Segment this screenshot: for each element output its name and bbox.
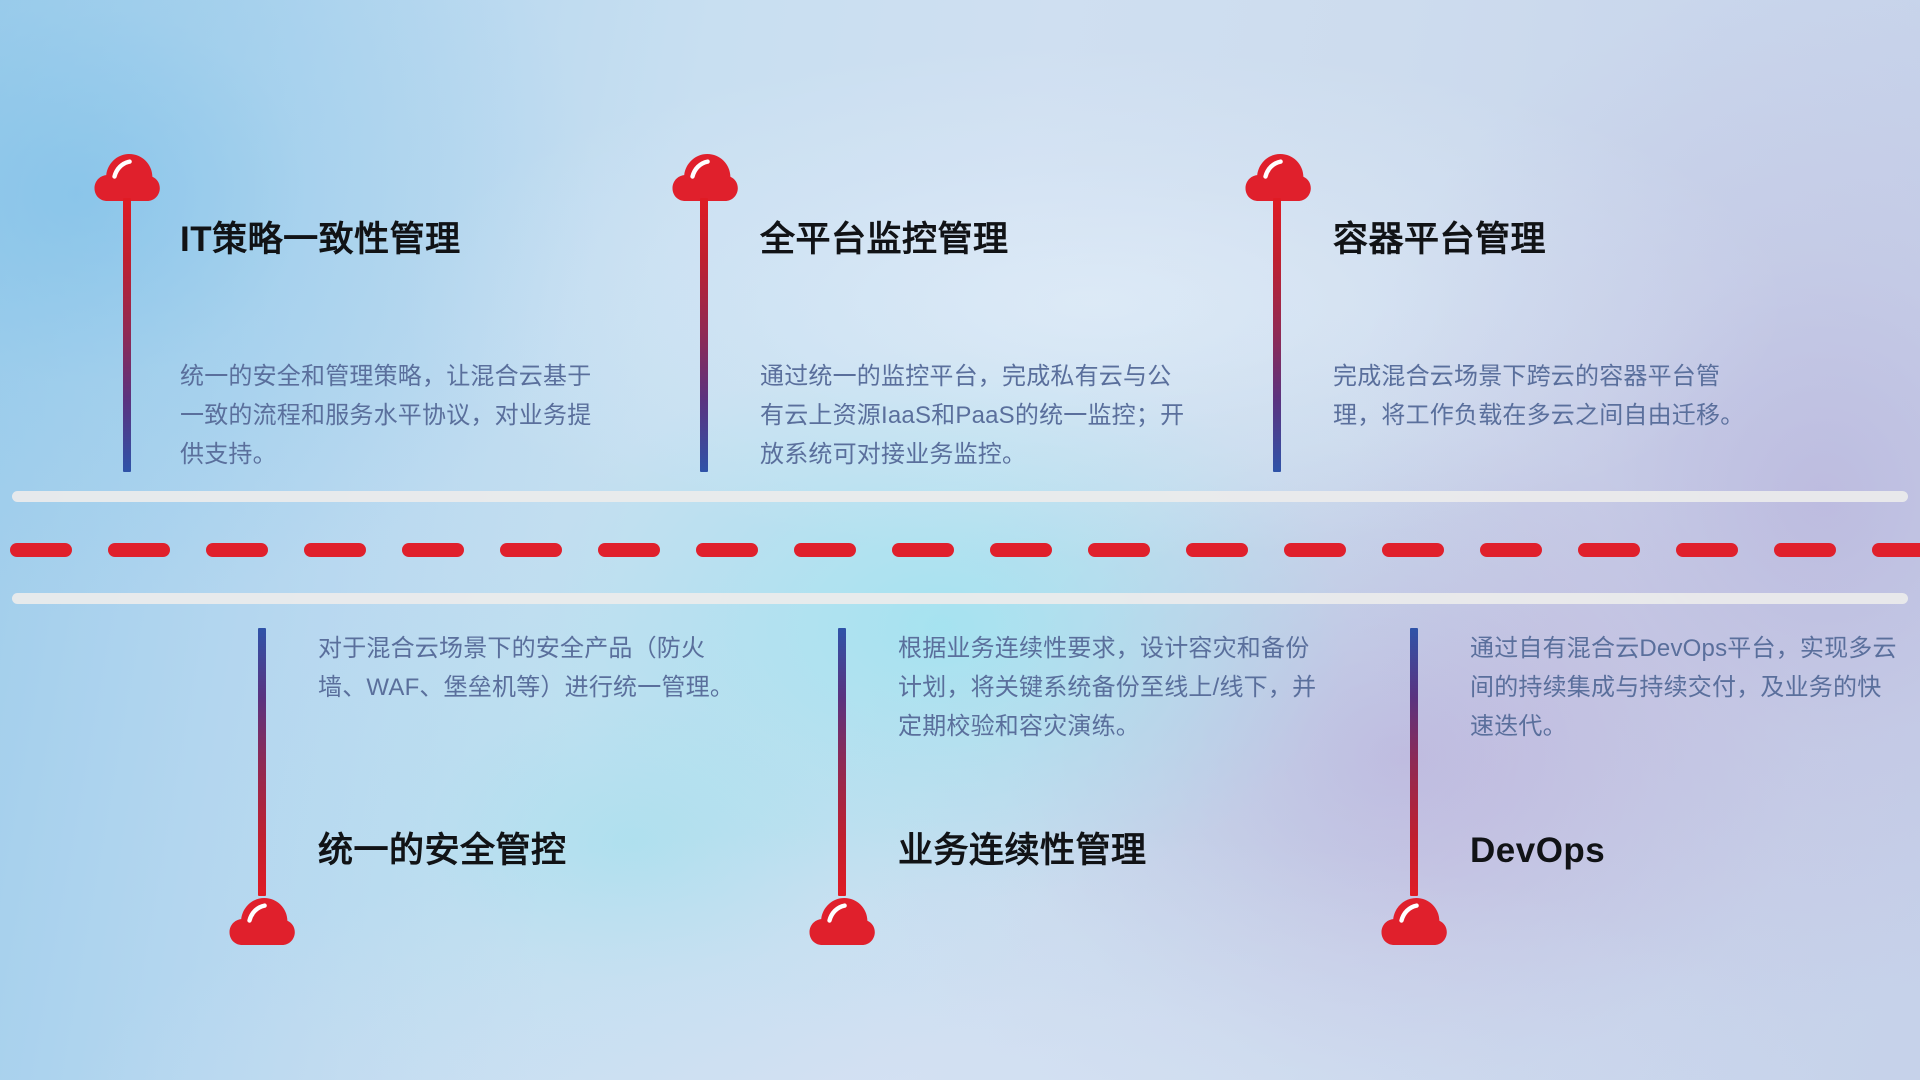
marker-title: 业务连续性管理: [898, 833, 1147, 868]
divider-dash: [304, 543, 366, 557]
divider-dash: [990, 543, 1052, 557]
marker-title: DevOps: [1470, 833, 1605, 868]
marker-body: 统一的安全和管理策略，让混合云基于一致的流程和服务水平协议，对业务提供支持。: [180, 358, 610, 475]
divider-dash: [696, 543, 758, 557]
marker-stem: [1273, 198, 1281, 472]
divider-dash: [1284, 543, 1346, 557]
divider-dash: [1774, 543, 1836, 557]
marker-body: 根据业务连续性要求，设计容灾和备份计划，将关键系统备份至线上/线下，并定期校验和…: [898, 630, 1328, 747]
divider-dash: [108, 543, 170, 557]
divider-dash: [10, 543, 72, 557]
divider-dash: [1676, 543, 1738, 557]
cloud-icon: [809, 896, 875, 946]
marker-stem: [1410, 628, 1418, 896]
divider-dash: [892, 543, 954, 557]
divider-dashed-line: [0, 543, 1920, 557]
marker-body: 通过统一的监控平台，完成私有云与公有云上资源IaaS和PaaS的统一监控；开放系…: [760, 358, 1190, 475]
marker-body: 对于混合云场景下的安全产品（防火墙、WAF、堡垒机等）进行统一管理。: [318, 630, 748, 708]
divider-dash: [1088, 543, 1150, 557]
marker-title: 容器平台管理: [1333, 222, 1546, 257]
marker-body: 通过自有混合云DevOps平台，实现多云间的持续集成与持续交付，及业务的快速迭代…: [1470, 630, 1900, 747]
marker-title: IT策略一致性管理: [180, 222, 461, 257]
divider-rail-bottom: [12, 593, 1908, 604]
divider-dash: [1578, 543, 1640, 557]
divider-dash: [402, 543, 464, 557]
divider-dash: [500, 543, 562, 557]
marker-stem: [700, 198, 708, 472]
divider-dash: [1480, 543, 1542, 557]
divider-dash: [206, 543, 268, 557]
divider-rail-top: [12, 491, 1908, 502]
cloud-icon: [1381, 896, 1447, 946]
cloud-icon: [94, 152, 160, 202]
marker-title: 统一的安全管控: [318, 833, 567, 868]
marker-title: 全平台监控管理: [760, 222, 1009, 257]
marker-stem: [838, 628, 846, 896]
divider-dash: [598, 543, 660, 557]
divider-dash: [1382, 543, 1444, 557]
cloud-icon: [1245, 152, 1311, 202]
cloud-icon: [229, 896, 295, 946]
divider-dash: [1872, 543, 1920, 557]
marker-stem: [258, 628, 266, 896]
marker-stem: [123, 198, 131, 472]
cloud-icon: [672, 152, 738, 202]
marker-body: 完成混合云场景下跨云的容器平台管理，将工作负载在多云之间自由迁移。: [1333, 358, 1763, 436]
divider-dash: [794, 543, 856, 557]
divider-dash: [1186, 543, 1248, 557]
infographic-canvas: IT策略一致性管理 统一的安全和管理策略，让混合云基于一致的流程和服务水平协议，…: [0, 0, 1920, 1080]
